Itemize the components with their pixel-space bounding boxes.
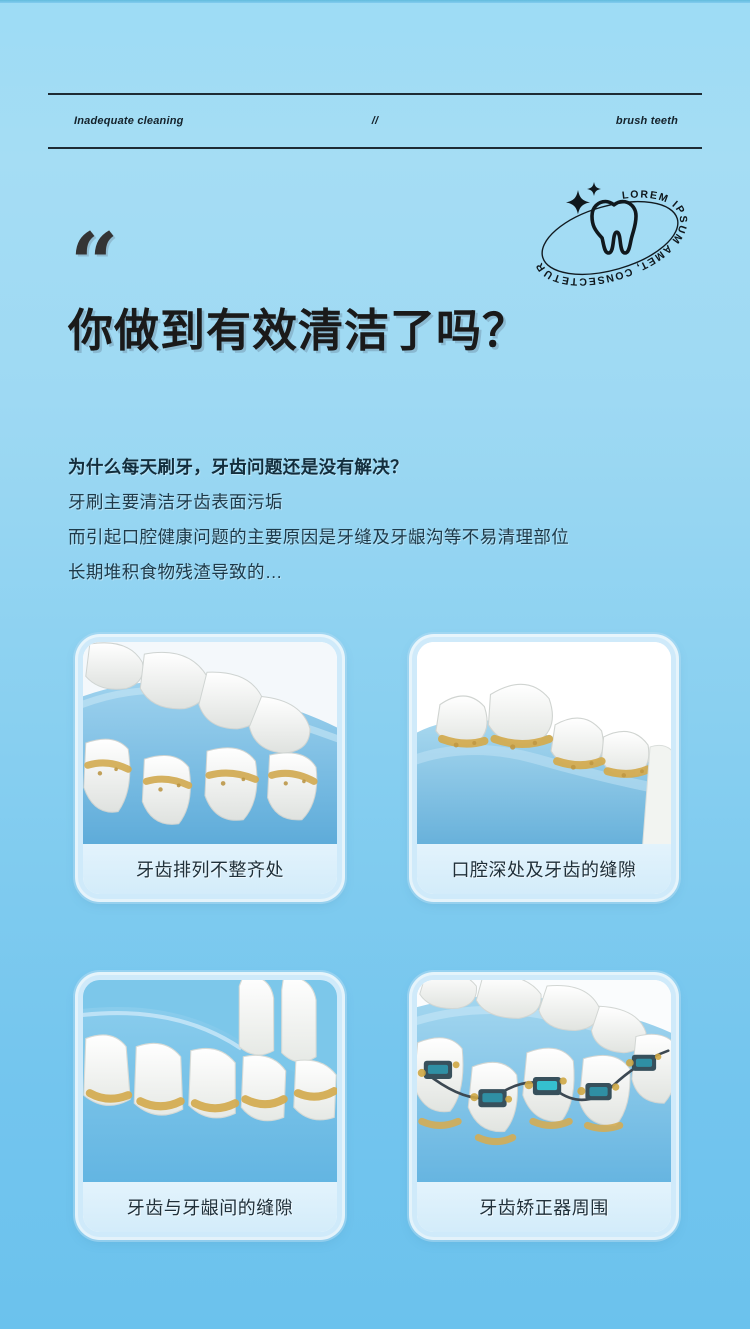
page-root: Inadequate cleaning // brush teeth L [0,0,750,1329]
braces-photo [417,980,671,1182]
card-caption: 牙齿矫正器周围 [417,1182,671,1232]
quote-mark-icon: “ [70,222,116,306]
rule-label-left: Inadequate cleaning [74,115,184,127]
brand-badge: LOREM IPSUM AMET, CONSECTETUR ADIPISCING [520,168,700,303]
tooth-icon [592,202,636,254]
problem-card-grid: 牙齿排列不整齐处 [78,637,678,1237]
paragraph-line-4: 长期堆积食物残渣导致的… [68,555,668,590]
rule-label-center: // [372,115,379,127]
problem-card[interactable]: 口腔深处及牙齿的缝隙 [412,637,676,899]
crooked-teeth-photo [83,642,337,844]
paragraph-line-3: 而引起口腔健康问题的主要原因是牙缝及牙龈沟等不易清理部位 [68,520,668,555]
card-caption: 口腔深处及牙齿的缝隙 [417,844,671,894]
problem-card[interactable]: 牙齿与牙龈间的缝隙 [78,975,342,1237]
badge-ring-text: LOREM IPSUM AMET, CONSECTETUR ADIPISCING [515,159,689,287]
molar-gaps-photo [417,642,671,844]
problem-card[interactable]: 牙齿排列不整齐处 [78,637,342,899]
top-rule-band: Inadequate cleaning // brush teeth [48,93,702,149]
card-caption: 牙齿与牙龈间的缝隙 [83,1182,337,1232]
intro-paragraph: 为什么每天刷牙，牙齿问题还是没有解决？ 牙刷主要清洁牙齿表面污垢 而引起口腔健康… [68,450,668,590]
page-title: 你做到有效清洁了吗？ [68,305,528,357]
badge-svg: LOREM IPSUM AMET, CONSECTETUR ADIPISCING [520,168,700,303]
gumline-gap-photo [83,980,337,1182]
rule-label-right: brush teeth [616,115,678,127]
problem-card[interactable]: 牙齿矫正器周围 [412,975,676,1237]
paragraph-line-2: 牙刷主要清洁牙齿表面污垢 [68,485,668,520]
card-caption: 牙齿排列不整齐处 [83,844,337,894]
paragraph-line-1: 为什么每天刷牙，牙齿问题还是没有解决？ [68,450,668,485]
